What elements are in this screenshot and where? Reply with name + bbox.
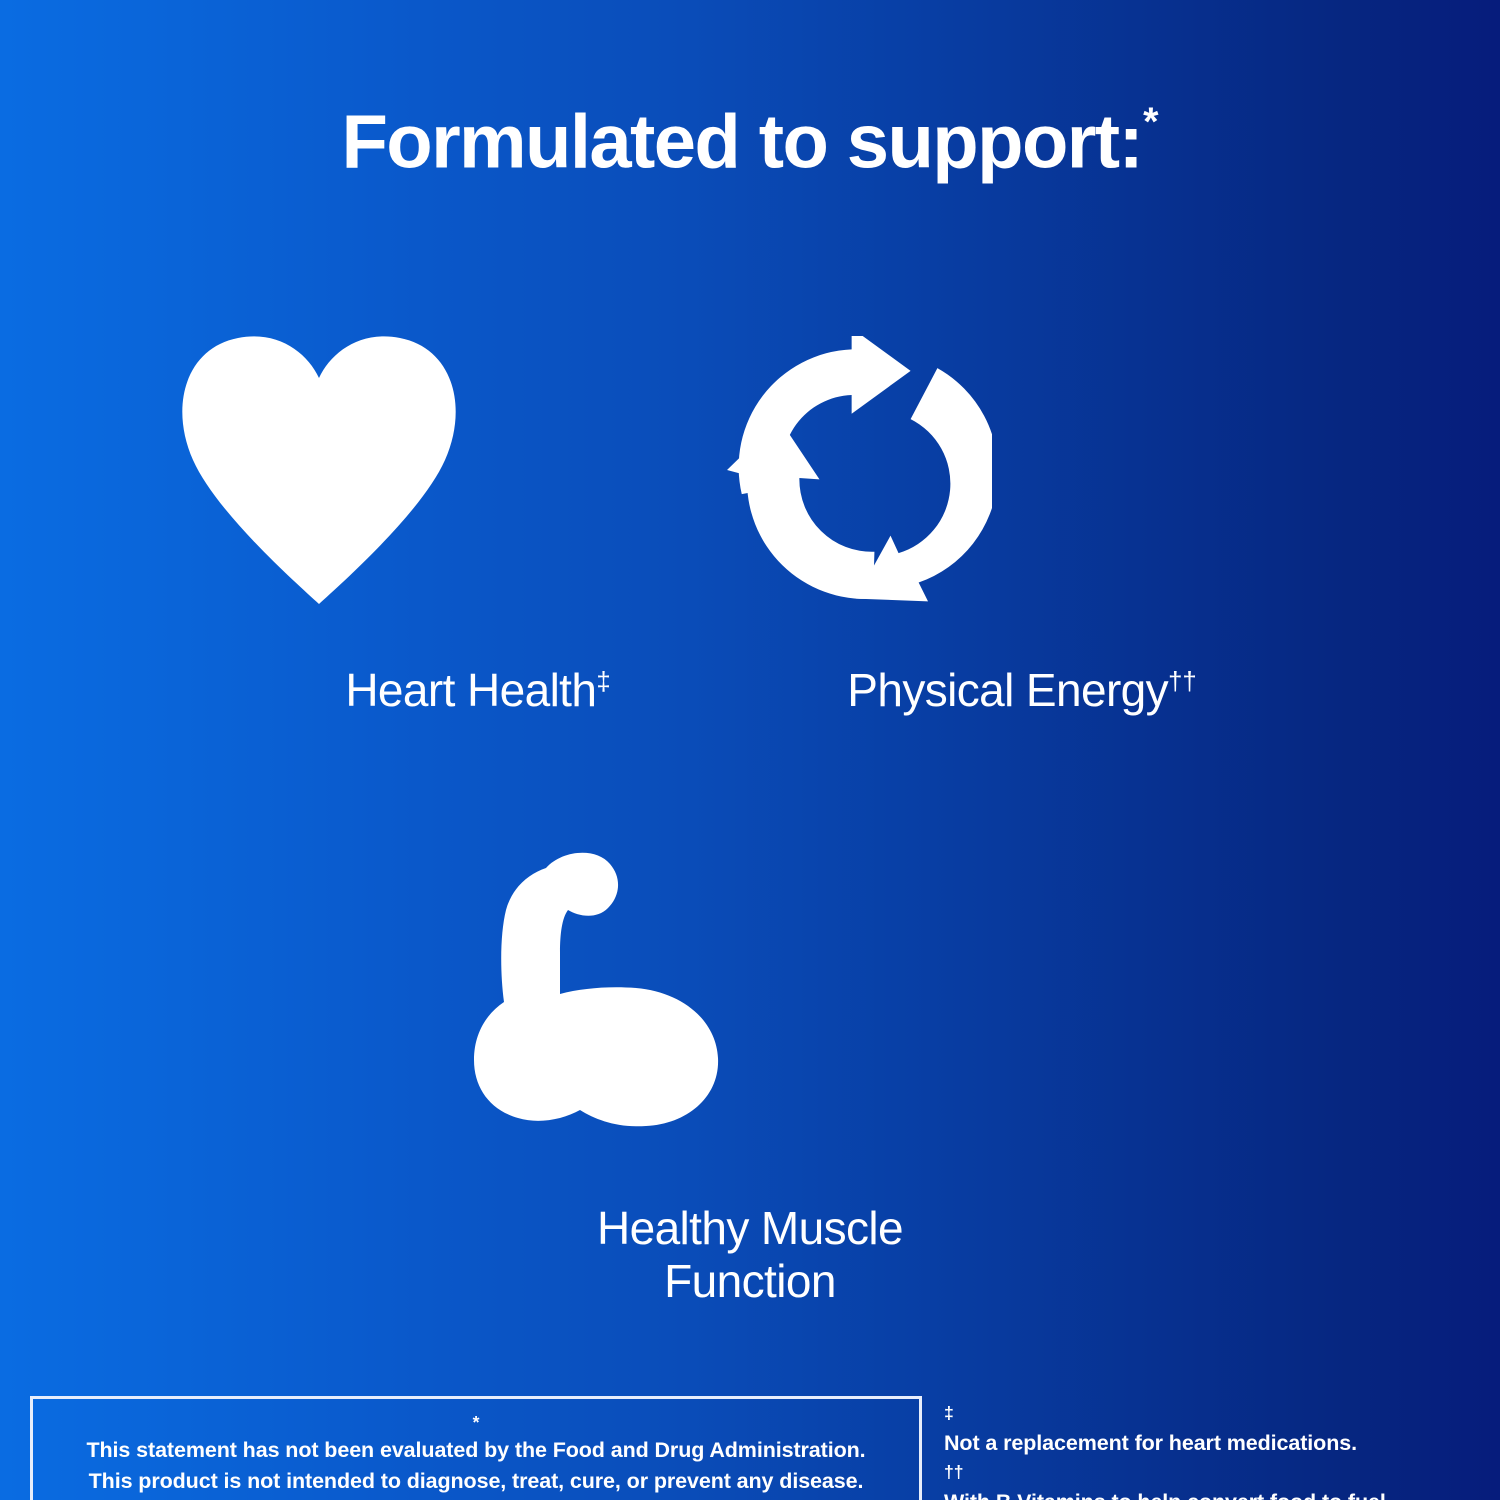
benefit-label: Physical Energy†† — [722, 664, 1322, 717]
benefit-footnote-marker: †† — [1168, 668, 1197, 696]
benefit-physical-energy: Physical Energy†† — [722, 336, 1322, 717]
benefit-heart-health: Heart Health‡ — [178, 336, 778, 717]
benefit-footnote-marker: ‡ — [596, 668, 610, 696]
promo-panel: Formulated to support:* Heart Health‡ — [0, 0, 1500, 1500]
footnote-b-vitamins: ††With B Vitamins to help convert food t… — [944, 1459, 1484, 1500]
footnote-1-text: Not a replacement for heart medications. — [944, 1427, 1484, 1460]
fda-marker: * — [43, 1410, 909, 1435]
benefit-label: Healthy Muscle Function — [450, 1202, 1050, 1309]
fda-line-1-text: This statement has not been evaluated by… — [43, 1435, 909, 1466]
footnote-marker-double-dagger-alt: †† — [944, 1459, 1484, 1486]
footnote-list: ‡Not a replacement for heart medications… — [944, 1400, 1484, 1500]
footnote-2-text: With B Vitamins to help convert food to … — [944, 1486, 1484, 1500]
page-title: Formulated to support:* — [0, 103, 1500, 180]
fda-disclaimer-box: *This statement has not been evaluated b… — [30, 1396, 922, 1500]
fda-disclaimer-line-1: *This statement has not been evaluated b… — [43, 1410, 909, 1466]
benefit-label-text: Physical Energy — [847, 664, 1168, 716]
fda-disclaimer-line-2: This product is not intended to diagnose… — [43, 1466, 909, 1497]
page-title-footnote-marker: * — [1143, 100, 1158, 144]
benefit-label-text: Healthy Muscle Function — [597, 1202, 903, 1307]
footnote-heart-medications: ‡Not a replacement for heart medications… — [944, 1400, 1484, 1459]
benefit-healthy-muscle-function: Healthy Muscle Function — [450, 852, 1050, 1309]
footnote-marker-double-dagger: ‡ — [944, 1400, 1484, 1427]
heart-icon — [178, 336, 778, 604]
flexed-bicep-icon — [450, 852, 1050, 1140]
recycle-cycle-icon — [722, 336, 1322, 604]
benefit-label: Heart Health‡ — [178, 664, 778, 717]
benefit-label-text: Heart Health — [345, 664, 596, 716]
page-title-text: Formulated to support: — [341, 99, 1142, 184]
